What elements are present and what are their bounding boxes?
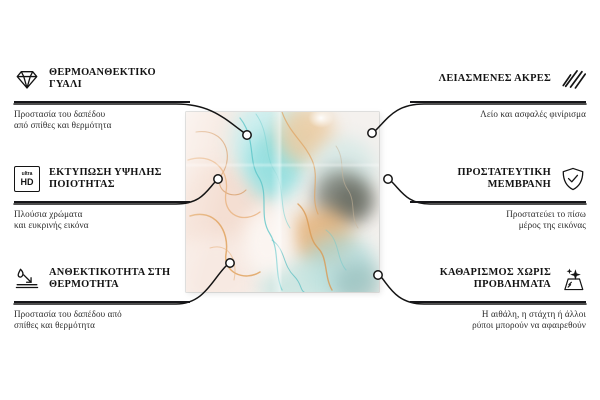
divider xyxy=(14,301,190,303)
feature-description-line: ρύποι μπορούν να αφαιρεθούν xyxy=(410,320,586,331)
feature-header: ultra HD ΕΚΤΥΠΩΣΗ ΥΨΗΛΗΣ ΠΟΙΟΤΗΤΑΣ xyxy=(14,162,190,196)
feature-description-line: Η αιθάλη, η στάχτη ή άλλοι xyxy=(410,309,586,320)
ink-veins xyxy=(186,112,379,292)
feature-heat-resistance: ΑΝΘΕΚΤΙΚΟΤΗΤΑ ΣΤΗ ΘΕΡΜΟΤΗΤΑ Προστασία το… xyxy=(14,262,190,331)
diamond-icon xyxy=(14,66,40,92)
divider xyxy=(14,101,190,103)
feature-description-line: Προστασία του δαπέδου xyxy=(14,109,190,120)
feature-description: Η αιθάλη, η στάχτη ή άλλοι ρύποι μπορούν… xyxy=(410,309,586,332)
feature-header: ΠΡΟΣΤΑΤΕΥΤΙΚΗ ΜΕΜΒΡΑΝΗ xyxy=(410,162,586,196)
product-image xyxy=(186,112,406,292)
feature-title: ΘΕΡΜΟΑΝΘΕΚΤΙΚΟ ΓΥΑΛΙ xyxy=(49,67,190,92)
feature-description: Λείο και ασφαλές φινίρισμα xyxy=(410,109,586,120)
feature-header: ΚΑΘΑΡΙΣΜΟΣ ΧΩΡΙΣ ΠΡΟΒΛΗΜΑΤΑ xyxy=(410,262,586,296)
feature-description-line: Προστασία του δαπέδου από xyxy=(14,309,190,320)
feature-description: Προστασία του δαπέδου από σπίθες και θερ… xyxy=(14,309,190,332)
feature-description: Πλούσια χρώματα και ευκρινής εικόνα xyxy=(14,209,190,232)
feature-description-line: σπίθες και θερμότητα xyxy=(14,320,190,331)
divider xyxy=(410,101,586,103)
feature-polished-edges: ΛΕΙΑΣΜΕΝΕΣ ΑΚΡΕΣ Λείο και ασφαλές φινίρι… xyxy=(410,62,586,120)
feature-description-line: Προστατεύει το πίσω xyxy=(410,209,586,220)
feature-header: ΘΕΡΜΟΑΝΘΕΚΤΙΚΟ ΓΥΑΛΙ xyxy=(14,62,190,96)
feature-protective-film: ΠΡΟΣΤΑΤΕΥΤΙΚΗ ΜΕΜΒΡΑΝΗ Προστατεύει το πί… xyxy=(410,162,586,231)
feature-description-line: Λείο και ασφαλές φινίρισμα xyxy=(410,109,586,120)
divider xyxy=(14,201,190,203)
feature-header: ΑΝΘΕΚΤΙΚΟΤΗΤΑ ΣΤΗ ΘΕΡΜΟΤΗΤΑ xyxy=(14,262,190,296)
shield-check-icon xyxy=(560,166,586,192)
ultra-hd-icon-bottom-label: HD xyxy=(21,178,34,187)
feature-description-line: μέρος της εικόνας xyxy=(410,220,586,231)
ultra-hd-icon: ultra HD xyxy=(14,166,40,192)
feature-description-line: και ευκρινής εικόνα xyxy=(14,220,190,231)
feature-high-quality-print: ultra HD ΕΚΤΥΠΩΣΗ ΥΨΗΛΗΣ ΠΟΙΟΤΗΤΑΣ Πλούσ… xyxy=(14,162,190,231)
feature-description: Προστασία του δαπέδου από σπίθες και θερ… xyxy=(14,109,190,132)
feature-heat-resistant-glass: ΘΕΡΜΟΑΝΘΕΚΤΙΚΟ ΓΥΑΛΙ Προστασία του δαπέδ… xyxy=(14,62,190,131)
divider xyxy=(410,201,586,203)
feature-title: ΛΕΙΑΣΜΕΝΕΣ ΑΚΡΕΣ xyxy=(410,73,551,85)
feature-title: ΑΝΘΕΚΤΙΚΟΤΗΤΑ ΣΤΗ ΘΕΡΜΟΤΗΤΑ xyxy=(49,267,190,292)
ultra-hd-icon-top-label: ultra xyxy=(22,172,33,177)
feature-description-line: Πλούσια χρώματα xyxy=(14,209,190,220)
feature-header: ΛΕΙΑΣΜΕΝΕΣ ΑΚΡΕΣ xyxy=(410,62,586,96)
heat-resistance-icon xyxy=(14,266,40,292)
polished-edges-icon xyxy=(560,66,586,92)
feature-description: Προστατεύει το πίσω μέρος της εικόνας xyxy=(410,209,586,232)
divider xyxy=(410,301,586,303)
easy-clean-icon xyxy=(560,266,586,292)
feature-title: ΕΚΤΥΠΩΣΗ ΥΨΗΛΗΣ ΠΟΙΟΤΗΤΑΣ xyxy=(49,167,190,192)
feature-easy-cleaning: ΚΑΘΑΡΙΣΜΟΣ ΧΩΡΙΣ ΠΡΟΒΛΗΜΑΤΑ Η αιθάλη, η … xyxy=(410,262,586,331)
glass-panel xyxy=(186,112,379,292)
feature-title: ΠΡΟΣΤΑΤΕΥΤΙΚΗ ΜΕΜΒΡΑΝΗ xyxy=(410,167,551,192)
feature-title: ΚΑΘΑΡΙΣΜΟΣ ΧΩΡΙΣ ΠΡΟΒΛΗΜΑΤΑ xyxy=(410,267,551,292)
feature-description-line: από σπίθες και θερμότητα xyxy=(14,120,190,131)
